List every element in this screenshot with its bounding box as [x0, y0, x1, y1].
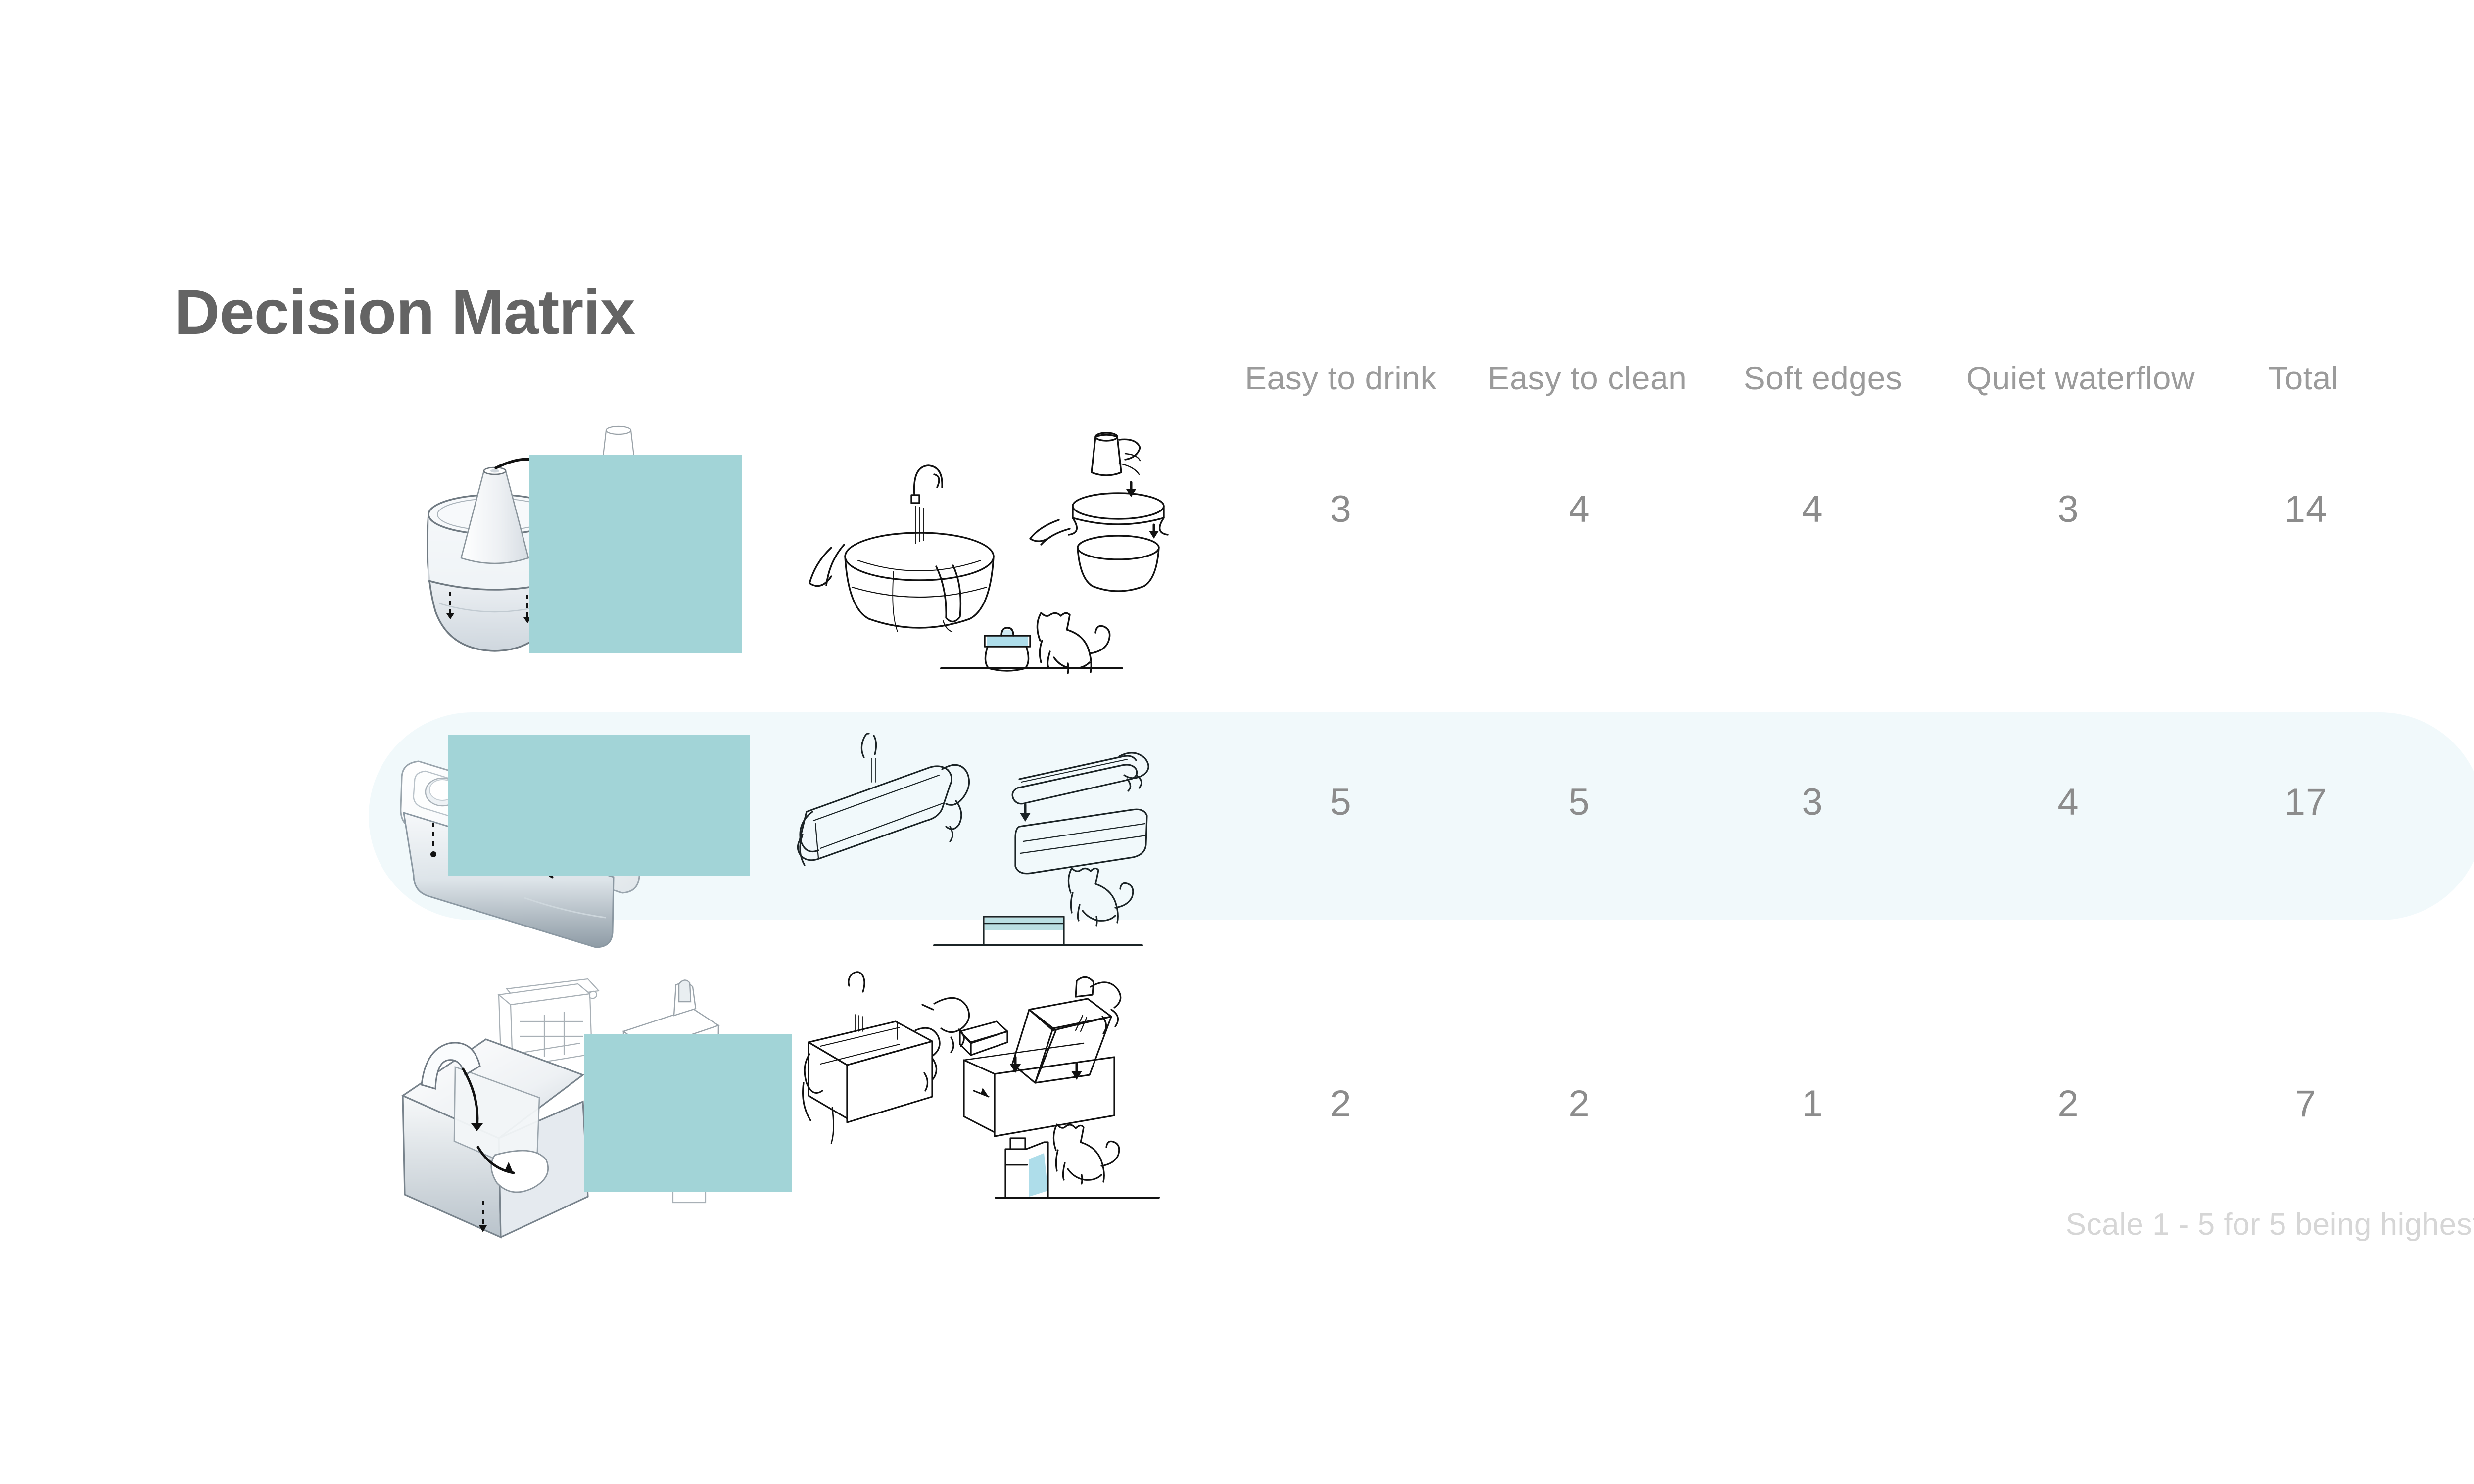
scale-note: Scale 1 - 5 for 5 being highest: [2066, 1207, 2474, 1242]
concept-sketch-round-bowl: [797, 423, 1163, 675]
column-header-total: Total: [2268, 359, 2338, 397]
concept-render-faceted-box: [376, 957, 792, 1234]
cat-drinking-vignette: [941, 613, 1122, 673]
slide-canvas: Decision Matrix Easy to drink Easy to cl…: [0, 0, 2474, 1484]
score-cell: 5: [1330, 781, 1351, 824]
teal-accent-block: [584, 1034, 792, 1192]
concept-render-slim-bar: [376, 720, 787, 967]
cat-drinking-vignette: [996, 1124, 1159, 1198]
score-cell: 2: [1330, 1082, 1351, 1125]
column-header-easy-to-drink: Easy to drink: [1245, 359, 1437, 397]
column-header-soft-edges: Soft edges: [1744, 359, 1903, 397]
concept-sketch-faceted-box: [792, 967, 1168, 1224]
teal-accent-block: [529, 455, 742, 653]
column-header-row: Easy to drink Easy to clean Soft edges Q…: [0, 359, 2474, 399]
score-total-cell: 17: [2284, 781, 2328, 824]
score-total-cell: 7: [2295, 1082, 2316, 1125]
score-cell: 3: [2057, 488, 2079, 531]
concept-render-round-bowl: [381, 425, 772, 683]
score-cell: 3: [1802, 781, 1823, 824]
column-header-quiet-waterflow: Quiet waterflow: [1966, 359, 2195, 397]
score-cell: 4: [2057, 781, 2079, 824]
teal-accent-block: [448, 735, 750, 876]
score-cell: 5: [1569, 781, 1590, 824]
score-cell: 2: [2057, 1082, 2079, 1125]
score-cell: 2: [1569, 1082, 1590, 1125]
concept-sketch-slim-bar: [787, 730, 1163, 962]
cat-drinking-vignette: [934, 868, 1142, 945]
score-cell: 3: [1330, 488, 1351, 531]
score-cell: 4: [1569, 488, 1590, 531]
score-total-cell: 14: [2284, 488, 2328, 531]
faceted-box-usage-sketch: [792, 967, 1168, 1224]
score-cell: 1: [1802, 1082, 1823, 1125]
round-bowl-usage-sketch: [797, 423, 1163, 675]
slim-bar-usage-sketch: [787, 730, 1163, 962]
page-title: Decision Matrix: [174, 279, 635, 346]
column-header-easy-to-clean: Easy to clean: [1488, 359, 1687, 397]
score-cell: 4: [1802, 488, 1823, 531]
